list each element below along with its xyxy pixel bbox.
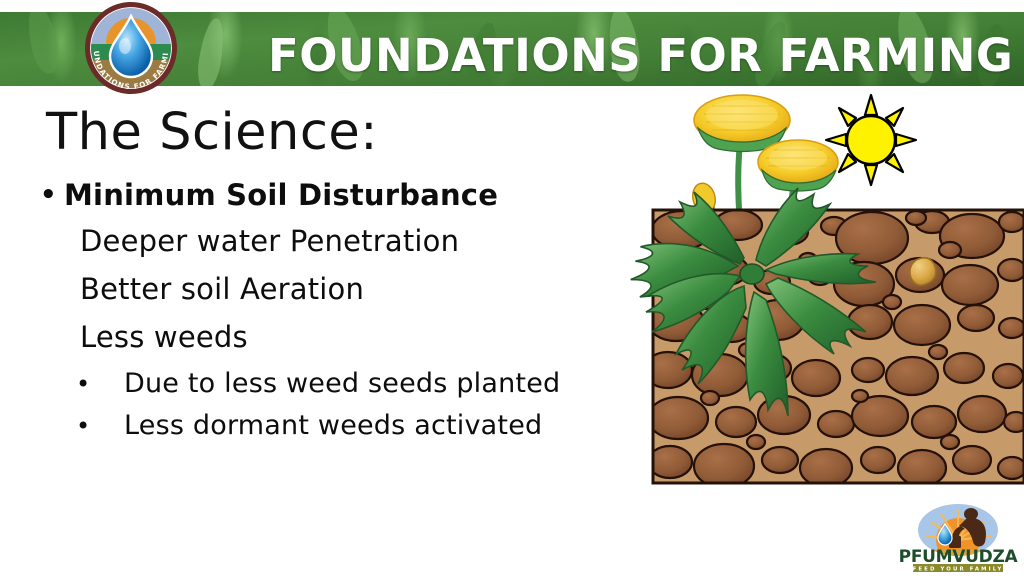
bullet-marker: • — [76, 406, 124, 446]
soil-cross-section-illustration — [620, 70, 1024, 490]
page-title: The Science: — [46, 103, 378, 162]
list-item: • Less dormant weeds activated — [40, 406, 680, 446]
list-item-label: Less dormant weeds activated — [124, 406, 542, 446]
list-item: • Minimum Soil Disturbance — [40, 178, 680, 212]
list-item-label: Minimum Soil Disturbance — [64, 178, 498, 212]
bullet-marker: • — [40, 178, 64, 212]
banner-leaf — [195, 17, 228, 86]
pfumvudza-tagline: FEED YOUR FAMILY — [913, 567, 1004, 573]
banner-leaf — [23, 12, 63, 76]
pfumvudza-logo: PFUMVUDZA FEED YOUR FAMILY — [897, 500, 1019, 572]
list-item: Better soil Aeration — [40, 268, 680, 310]
list-item-label: Due to less weed seeds planted — [124, 364, 560, 404]
slide-canvas: FOUNDATIONS FOR FARMING — [0, 0, 1024, 576]
list-item: • Due to less weed seeds planted — [40, 364, 680, 404]
list-item: Less weeds — [40, 316, 680, 358]
foundations-for-farming-logo: FOUNDATIONS FOR FARMING — [78, 0, 184, 104]
buried-seed — [910, 258, 936, 285]
list-item: Deeper water Penetration — [40, 220, 680, 262]
bullet-marker: • — [76, 364, 124, 404]
bullet-list: • Minimum Soil Disturbance Deeper water … — [40, 178, 680, 448]
sun-icon — [826, 95, 916, 185]
